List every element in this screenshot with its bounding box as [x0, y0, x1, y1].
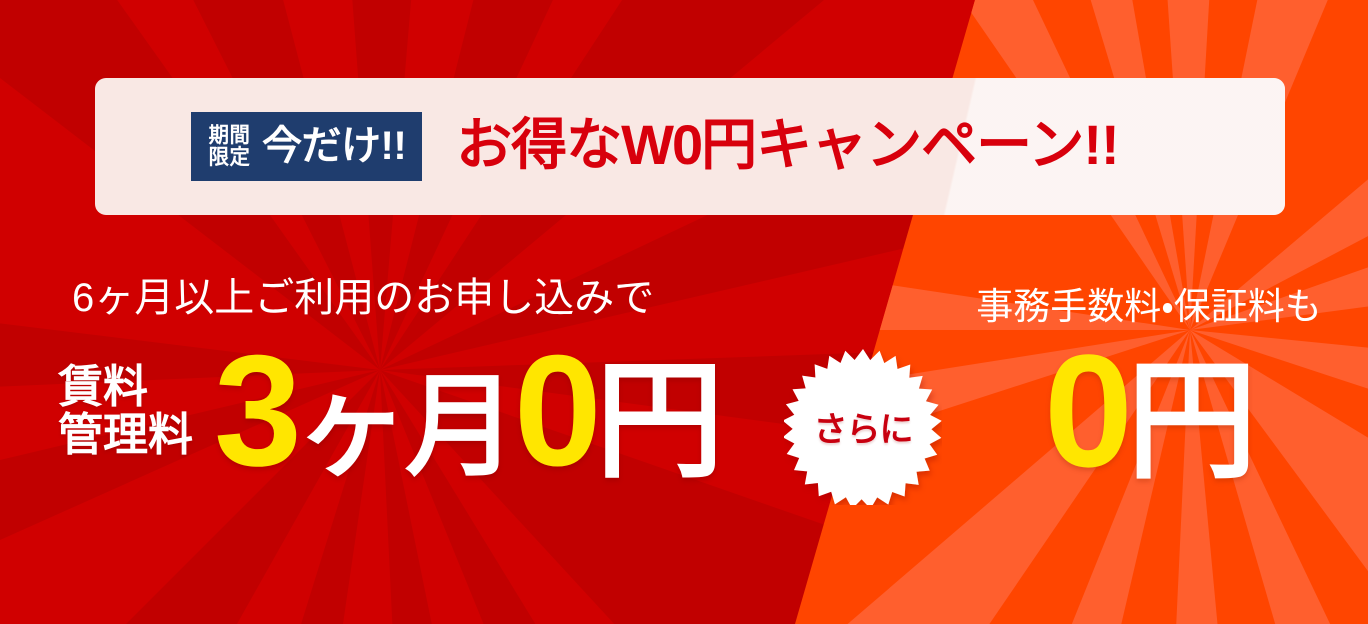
right-price-yen: 円 — [1127, 348, 1254, 494]
limited-time-badge: 期間 限定 今だけ!! — [191, 112, 422, 181]
headline-part-2: W0 — [621, 113, 701, 176]
headline-part-1: お得な — [456, 113, 621, 176]
fee-label-rent: 賃料 — [58, 363, 193, 411]
right-offer-lead: 事務手数料・保証料も — [930, 288, 1368, 325]
right-price-zero: 0 — [1044, 321, 1127, 500]
campaign-banner: 期間 限定 今だけ!! お得なW0円キャンペーン!! 6ヶ月以上ご利用のお申し込… — [0, 0, 1368, 624]
right-offer-block: 事務手数料・保証料も 0円 — [930, 288, 1368, 491]
left-price-yen: 円 — [596, 350, 721, 493]
sarani-label: さらに — [784, 347, 942, 505]
left-offer-lead: 6ヶ月以上ご利用のお申し込みで — [72, 278, 790, 318]
limited-time-line-2: 限定 — [209, 147, 251, 168]
fee-labels: 賃料 管理料 — [58, 363, 193, 458]
limited-time-line-1: 期間 — [209, 125, 251, 146]
left-offer-block: 6ヶ月以上ご利用のお申し込みで 賃料 管理料 3ヶ月0円 — [0, 278, 790, 490]
left-offer-row: 賃料 管理料 3ヶ月0円 — [58, 332, 790, 490]
left-price-months-number: 3 — [214, 323, 296, 499]
page-title: お得なW0円キャンペーン!! — [456, 117, 1119, 173]
sarani-starburst-badge: さらに — [784, 347, 942, 505]
left-offer-price: 3ヶ月0円 — [214, 332, 721, 490]
fee-label-management: 管理料 — [58, 411, 193, 459]
left-price-months-unit: ヶ月 — [296, 364, 514, 489]
now-only-label: 今だけ!! — [262, 126, 406, 166]
headline-banner: 期間 限定 今だけ!! お得なW0円キャンペーン!! — [95, 78, 1285, 215]
left-price-zero: 0 — [514, 323, 596, 499]
right-offer-price: 0円 — [930, 331, 1368, 491]
limited-time-label: 期間 限定 — [209, 125, 251, 168]
headline-part-3: 円キャンペーン!! — [701, 113, 1119, 176]
